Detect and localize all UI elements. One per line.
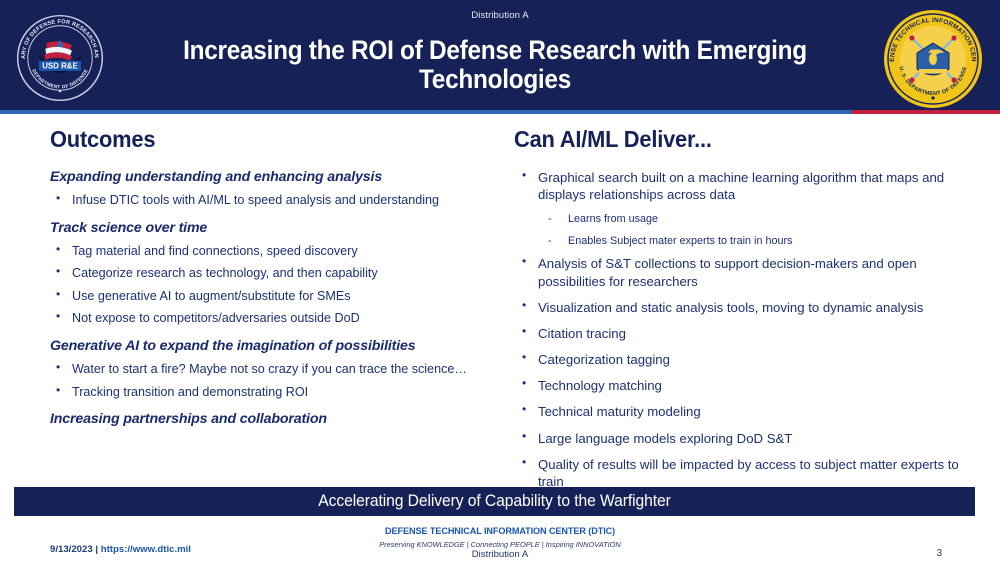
accent-rule-blue [0, 110, 852, 114]
list-item: Technical maturity modeling [514, 403, 974, 420]
list-item: Categorization tagging [514, 351, 974, 368]
accent-rule-red [852, 110, 1000, 114]
list-item: Categorize research as technology, and t… [50, 265, 502, 282]
list-item: Use generative AI to augment/substitute … [50, 288, 502, 305]
ai-ml-column: Can AI/ML Deliver... Graphical search bu… [514, 126, 974, 525]
dtic-brand-name: DEFENSE TECHNICAL INFORMATION CENTER (DT… [385, 526, 615, 537]
list-item: Citation tracing [514, 325, 974, 342]
sub-list-item: Learns from usage [514, 212, 974, 227]
outcomes-bullet-list: Water to start a fire? Maybe not so craz… [50, 361, 502, 400]
ai-ml-heading: Can AI/ML Deliver... [514, 126, 951, 153]
header-distribution-label: Distribution A [0, 10, 1000, 21]
outcomes-heading: Outcomes [50, 126, 479, 153]
outcomes-bullet-list: Tag material and find connections, speed… [50, 243, 502, 327]
list-item: Technology matching [514, 377, 974, 394]
footer-page-number: 3 [936, 548, 942, 559]
sub-list-item: Enables Subject mater experts to train i… [514, 234, 974, 249]
svg-text:USD R&E: USD R&E [42, 61, 78, 70]
outcomes-subheading: Generative AI to expand the imagination … [50, 338, 502, 354]
list-item: Not expose to competitors/adversaries ou… [50, 310, 502, 327]
slide-header: Distribution A Increasing the ROI of Def… [0, 0, 1000, 113]
footer-distribution-label: Distribution A [0, 549, 1000, 560]
ai-ml-list: Graphical search built on a machine lear… [514, 169, 974, 516]
list-item: Tracking transition and demonstrating RO… [50, 384, 502, 401]
list-item: Water to start a fire? Maybe not so craz… [50, 361, 502, 378]
outcomes-subheading: Track science over time [50, 220, 502, 236]
outcomes-column: Outcomes Expanding understanding and enh… [50, 126, 502, 434]
tagline-banner-text: Accelerating Delivery of Capability to t… [318, 492, 670, 511]
list-item: Infuse DTIC tools with AI/ML to speed an… [50, 192, 502, 209]
header-accent-rule [0, 110, 1000, 114]
list-item: Quality of results will be impacted by a… [514, 456, 974, 490]
list-item: Graphical search built on a machine lear… [514, 169, 974, 203]
usd-re-seal-icon: UNDER SECRETARY OF DEFENSE FOR RESEARCH … [14, 12, 106, 104]
slide: Distribution A Increasing the ROI of Def… [0, 0, 1000, 567]
list-item: Large language models exploring DoD S&T [514, 430, 974, 447]
list-item: Tag material and find connections, speed… [50, 243, 502, 260]
outcomes-subheading: Expanding understanding and enhancing an… [50, 169, 502, 185]
outcomes-subheading: Increasing partnerships and collaboratio… [50, 411, 502, 427]
dtic-seal-icon: DEFENSE TECHNICAL INFORMATION CENTER U. … [883, 9, 983, 109]
page-title: Increasing the ROI of Defense Research w… [141, 36, 849, 94]
tagline-banner: Accelerating Delivery of Capability to t… [14, 487, 975, 516]
outcomes-bullet-list: Infuse DTIC tools with AI/ML to speed an… [50, 192, 502, 209]
outcomes-groups: Expanding understanding and enhancing an… [50, 169, 502, 427]
list-item: Visualization and static analysis tools,… [514, 299, 974, 316]
list-item: Analysis of S&T collections to support d… [514, 255, 974, 289]
